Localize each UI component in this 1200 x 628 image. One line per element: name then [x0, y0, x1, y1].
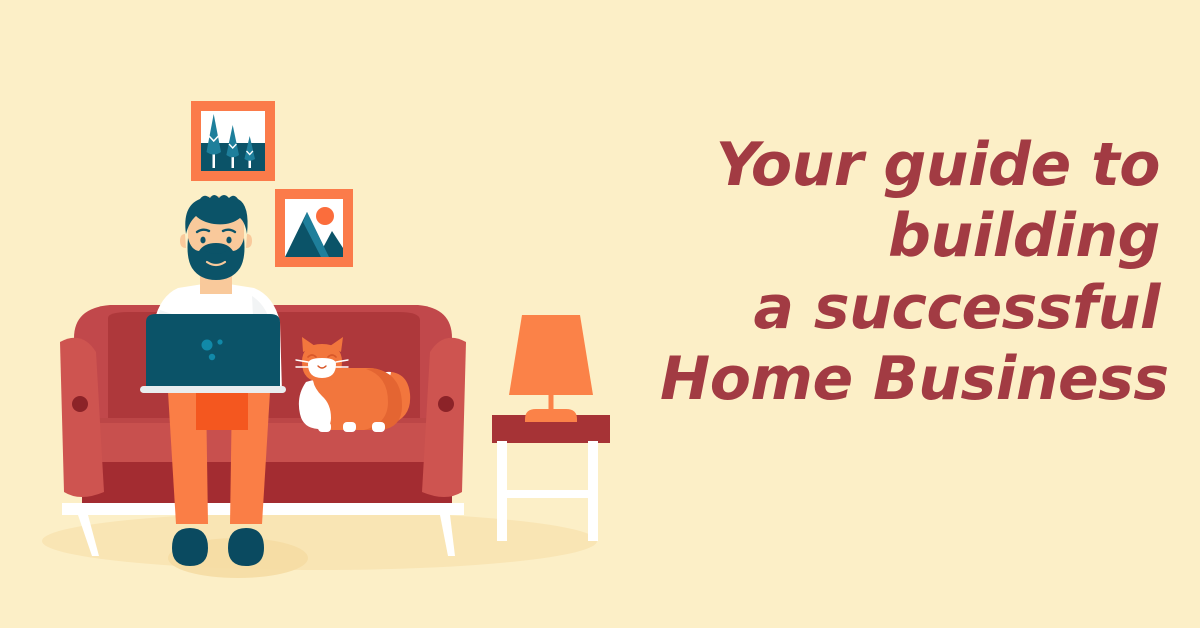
side-table: [492, 415, 610, 541]
headline-line-2: building: [660, 201, 1160, 272]
wall-frame-trees-icon: [191, 101, 275, 181]
headline-line-1: Your guide to: [660, 130, 1160, 201]
headline-line-3: a successful: [660, 273, 1160, 344]
table-lamp-icon: [509, 315, 593, 422]
wall-frame-mountains-icon: [275, 189, 353, 267]
illustration: [0, 0, 660, 628]
banner-canvas: Your guide to building a successful Home…: [0, 0, 1200, 628]
headline: Your guide to building a successful Home…: [660, 130, 1160, 416]
headline-line-4: Home Business: [660, 344, 1160, 415]
laptop-icon: [140, 314, 286, 393]
